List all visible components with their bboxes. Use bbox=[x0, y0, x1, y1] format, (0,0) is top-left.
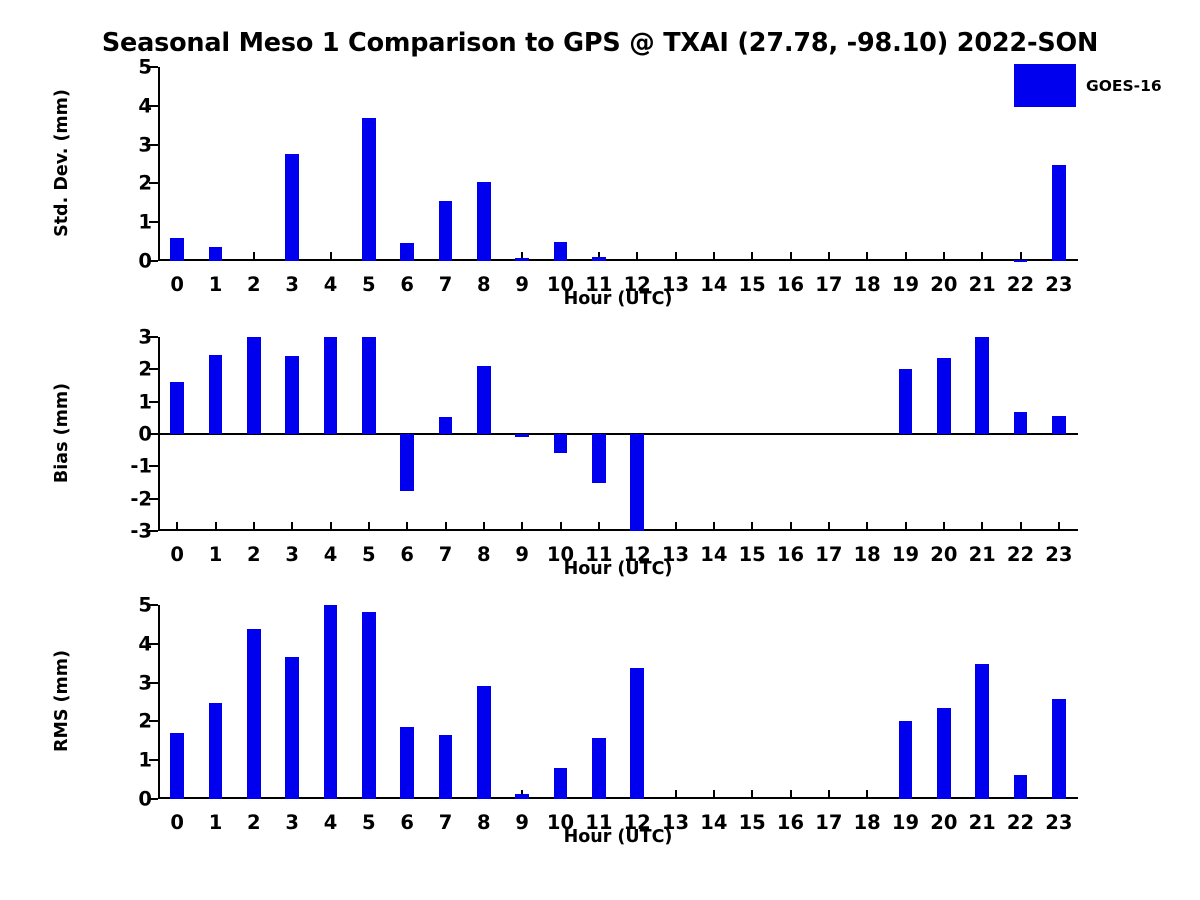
x-tick bbox=[905, 522, 907, 531]
x-tick bbox=[291, 522, 293, 531]
bar bbox=[477, 366, 491, 434]
y-tick-label: 0 bbox=[138, 424, 152, 444]
x-tick bbox=[253, 522, 255, 531]
bar bbox=[362, 337, 376, 434]
y-tick-label: 2 bbox=[138, 712, 152, 732]
bar bbox=[439, 417, 453, 434]
x-tick bbox=[905, 252, 907, 261]
plot-area-rms: 0123450123456789101112131415161718192021… bbox=[158, 605, 1078, 799]
x-tick bbox=[560, 522, 562, 531]
x-tick bbox=[1058, 522, 1060, 531]
bar bbox=[247, 337, 261, 434]
bar bbox=[1052, 165, 1066, 261]
bar bbox=[400, 243, 414, 261]
bar bbox=[247, 629, 261, 799]
y-tick-label: 4 bbox=[138, 634, 152, 654]
bar bbox=[554, 768, 568, 799]
x-tick bbox=[483, 522, 485, 531]
bar bbox=[1014, 260, 1028, 262]
page-title: Seasonal Meso 1 Comparison to GPS @ TXAI… bbox=[0, 28, 1200, 58]
bar bbox=[937, 358, 951, 434]
bar bbox=[515, 434, 529, 437]
y-tick-label: -3 bbox=[130, 521, 152, 541]
x-tick bbox=[636, 252, 638, 261]
y-axis-line bbox=[158, 605, 160, 799]
x-axis-line bbox=[158, 529, 1078, 531]
bar bbox=[477, 182, 491, 261]
y-axis-label-bias: Bias (mm) bbox=[52, 383, 72, 483]
y-tick-label: 5 bbox=[138, 57, 152, 77]
bar bbox=[975, 337, 989, 434]
y-tick-label: 3 bbox=[138, 673, 152, 693]
y-tick-label: 2 bbox=[138, 360, 152, 380]
x-tick bbox=[675, 252, 677, 261]
x-axis-label-rms: Hour (UTC) bbox=[158, 827, 1078, 847]
y-tick-label: -1 bbox=[130, 457, 152, 477]
bar bbox=[362, 612, 376, 799]
y-tick-label: 4 bbox=[138, 96, 152, 116]
x-tick bbox=[176, 522, 178, 531]
y-tick-label: 1 bbox=[138, 212, 152, 232]
x-tick bbox=[866, 790, 868, 799]
bar bbox=[630, 668, 644, 799]
x-tick bbox=[368, 522, 370, 531]
y-tick-label: 0 bbox=[138, 789, 152, 809]
bar bbox=[554, 434, 568, 453]
y-tick-label: -2 bbox=[130, 489, 152, 509]
x-tick bbox=[790, 522, 792, 531]
bar bbox=[209, 247, 223, 261]
x-tick bbox=[598, 522, 600, 531]
bar bbox=[515, 794, 529, 799]
x-tick bbox=[751, 790, 753, 799]
x-tick bbox=[675, 790, 677, 799]
x-tick bbox=[253, 252, 255, 261]
bar bbox=[975, 664, 989, 799]
x-tick bbox=[828, 522, 830, 531]
bar bbox=[209, 703, 223, 799]
bar bbox=[439, 201, 453, 261]
bar bbox=[209, 355, 223, 434]
plot-area-bias: -3-2-10123012345678910111213141516171819… bbox=[158, 337, 1078, 531]
bar bbox=[1014, 775, 1028, 799]
bar bbox=[1014, 412, 1028, 434]
bar bbox=[400, 727, 414, 799]
x-tick bbox=[981, 522, 983, 531]
x-tick bbox=[713, 522, 715, 531]
y-tick-label: 0 bbox=[138, 251, 152, 271]
x-tick bbox=[406, 522, 408, 531]
figure-canvas: Seasonal Meso 1 Comparison to GPS @ TXAI… bbox=[0, 0, 1200, 900]
x-tick bbox=[521, 522, 523, 531]
y-axis-label-std-dev: Std. Dev. (mm) bbox=[52, 89, 72, 237]
x-tick bbox=[330, 252, 332, 261]
subplot-std-dev: 0123450123456789101112131415161718192021… bbox=[0, 67, 1200, 261]
x-tick bbox=[866, 522, 868, 531]
y-axis-line bbox=[158, 67, 160, 261]
x-tick bbox=[790, 252, 792, 261]
subplot-bias: -3-2-10123012345678910111213141516171819… bbox=[0, 337, 1200, 531]
bar bbox=[170, 238, 184, 261]
bar bbox=[362, 118, 376, 261]
x-tick bbox=[445, 522, 447, 531]
bar bbox=[285, 356, 299, 434]
bar bbox=[324, 605, 338, 799]
bar bbox=[937, 708, 951, 799]
bar bbox=[324, 337, 338, 434]
bar bbox=[1052, 416, 1066, 434]
y-tick-label: 1 bbox=[138, 750, 152, 770]
x-tick bbox=[828, 790, 830, 799]
x-tick bbox=[751, 252, 753, 261]
bar bbox=[400, 434, 414, 491]
bar bbox=[477, 686, 491, 799]
bar bbox=[1052, 699, 1066, 799]
bar bbox=[899, 721, 913, 799]
bar bbox=[554, 242, 568, 261]
x-tick bbox=[828, 252, 830, 261]
bar bbox=[592, 257, 606, 261]
y-tick-label: 3 bbox=[138, 135, 152, 155]
x-tick bbox=[215, 522, 217, 531]
x-tick bbox=[790, 790, 792, 799]
bar bbox=[592, 738, 606, 799]
x-tick bbox=[866, 252, 868, 261]
bar bbox=[285, 154, 299, 261]
bar bbox=[515, 258, 529, 261]
x-tick bbox=[713, 252, 715, 261]
bar bbox=[170, 382, 184, 434]
bar bbox=[170, 733, 184, 799]
bar bbox=[630, 434, 644, 531]
bar bbox=[592, 434, 606, 483]
x-axis-label-std-dev: Hour (UTC) bbox=[158, 289, 1078, 309]
y-tick-label: 3 bbox=[138, 327, 152, 347]
y-tick-label: 5 bbox=[138, 595, 152, 615]
subplot-rms: 0123450123456789101112131415161718192021… bbox=[0, 605, 1200, 799]
x-tick bbox=[751, 522, 753, 531]
bar bbox=[285, 657, 299, 799]
y-tick-label: 1 bbox=[138, 392, 152, 412]
y-tick-label: 2 bbox=[138, 174, 152, 194]
x-axis-label-bias: Hour (UTC) bbox=[158, 559, 1078, 579]
bar bbox=[899, 369, 913, 434]
x-tick bbox=[330, 522, 332, 531]
bar bbox=[439, 735, 453, 799]
x-tick bbox=[713, 790, 715, 799]
x-tick bbox=[943, 252, 945, 261]
x-tick bbox=[981, 252, 983, 261]
x-tick bbox=[1020, 522, 1022, 531]
x-tick bbox=[675, 522, 677, 531]
y-axis-label-rms: RMS (mm) bbox=[52, 650, 72, 752]
plot-area-std-dev: 0123450123456789101112131415161718192021… bbox=[158, 67, 1078, 261]
x-tick bbox=[943, 522, 945, 531]
